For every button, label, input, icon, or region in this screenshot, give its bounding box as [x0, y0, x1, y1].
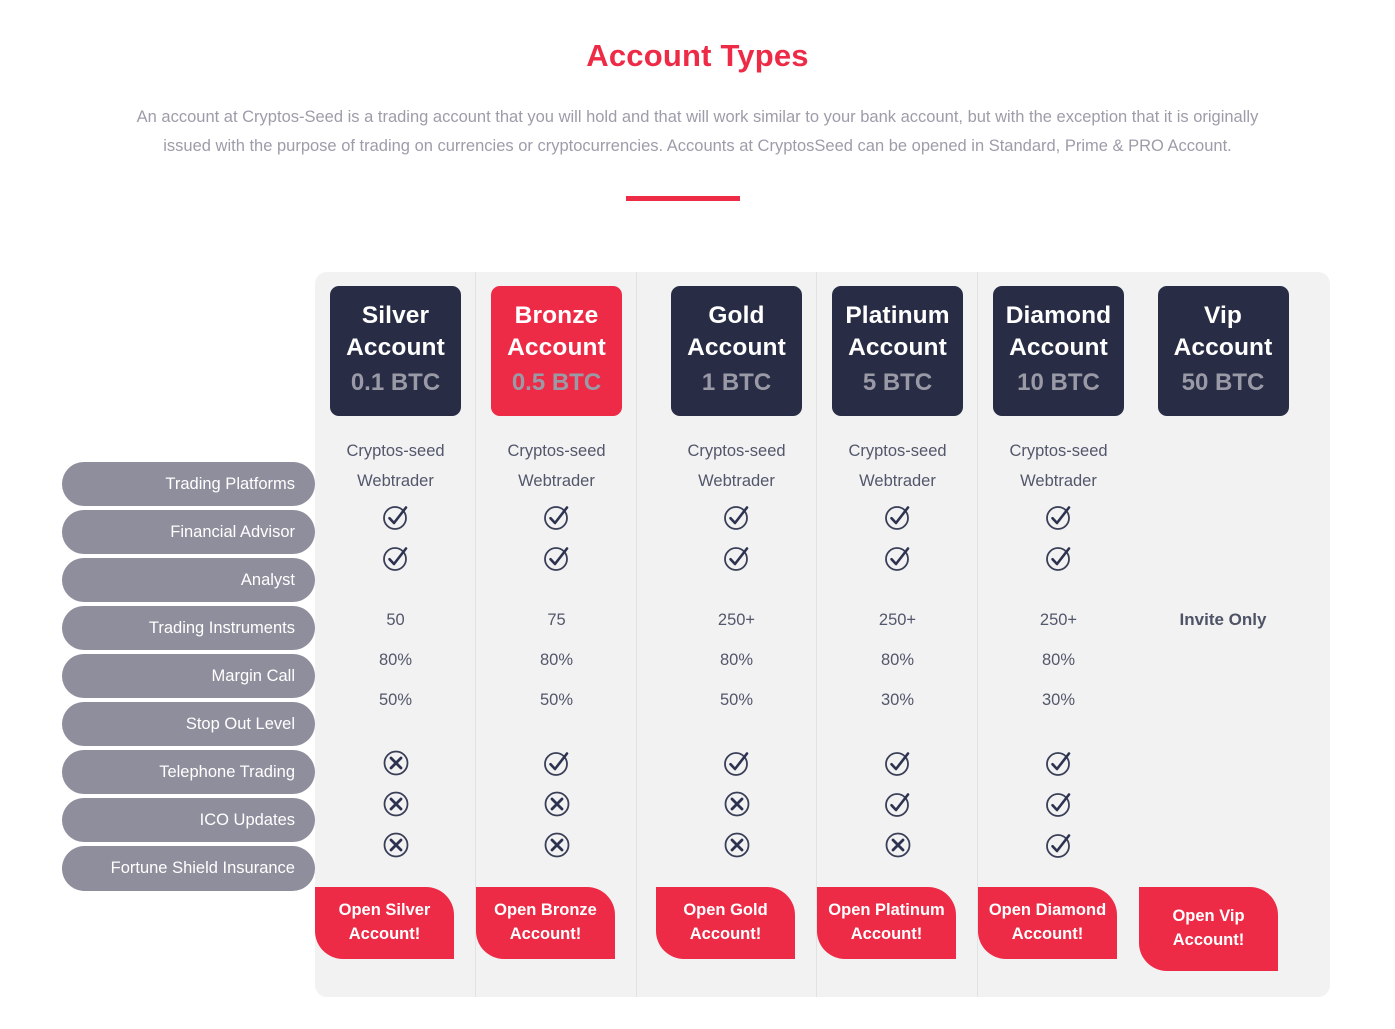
cell-trading-instruments: 250+ — [978, 600, 1139, 640]
cell-financial-advisor — [476, 496, 637, 537]
cell-financial-advisor — [817, 496, 978, 537]
account-name-line2: Account — [1162, 332, 1285, 364]
account-name-line1: Bronze — [495, 300, 618, 332]
account-column-platinum: Platinum Account 5 BTC Cryptos-seed Webt… — [817, 272, 978, 997]
cell-telephone-trading — [978, 742, 1139, 783]
check-circle-icon — [1044, 830, 1074, 860]
invite-only-label: Invite Only — [1139, 600, 1307, 640]
feature-label-trading-instruments[interactable]: Trading Instruments — [62, 606, 315, 650]
cell-fortune-shield-insurance — [656, 824, 817, 865]
column-divider — [636, 272, 637, 997]
cell-analyst — [817, 537, 978, 578]
account-price: 50 BTC — [1162, 366, 1285, 400]
row-spacer — [656, 578, 817, 600]
check-circle-icon — [883, 789, 913, 819]
cell-margin-call: 80% — [656, 640, 817, 680]
account-name-line1: Vip — [1162, 300, 1285, 332]
account-price: 0.5 BTC — [495, 366, 618, 400]
account-price: 5 BTC — [836, 366, 959, 400]
feature-label-trading-platforms[interactable]: Trading Platforms — [62, 462, 315, 506]
cell-trading-instruments: 50 — [315, 600, 476, 640]
cell-financial-advisor — [656, 496, 817, 537]
row-spacer — [817, 865, 978, 887]
account-price: 0.1 BTC — [334, 366, 457, 400]
feature-label-financial-advisor[interactable]: Financial Advisor — [62, 510, 315, 554]
cell-empty — [1139, 640, 1307, 680]
check-circle-icon — [883, 502, 913, 532]
cell-telephone-trading — [476, 742, 637, 783]
cell-trading-instruments: 250+ — [656, 600, 817, 640]
row-spacer — [1139, 720, 1307, 742]
row-spacer — [1139, 865, 1307, 887]
cell-financial-advisor — [315, 496, 476, 537]
account-header-card-silver: Silver Account 0.1 BTC — [330, 286, 461, 416]
row-spacer — [476, 720, 637, 742]
feature-label-analyst[interactable]: Analyst — [62, 558, 315, 602]
check-circle-icon — [542, 748, 572, 778]
cell-telephone-trading — [817, 742, 978, 783]
account-column-silver: Silver Account 0.1 BTC Cryptos-seed Webt… — [315, 272, 476, 997]
cell-fortune-shield-insurance — [817, 824, 978, 865]
cell-ico-updates — [978, 783, 1139, 824]
cell-stop-out-level: 50% — [315, 680, 476, 720]
check-circle-icon — [1044, 543, 1074, 573]
open-silver-account-button[interactable]: Open Silver Account! — [315, 887, 454, 959]
cell-stop-out-level: 30% — [978, 680, 1139, 720]
cell-ico-updates — [817, 783, 978, 824]
row-spacer — [817, 578, 978, 600]
cell-stop-out-level: 50% — [656, 680, 817, 720]
row-spacer — [315, 720, 476, 742]
cell-empty — [1139, 537, 1307, 578]
cell-empty — [1139, 496, 1307, 537]
cell-margin-call: 80% — [817, 640, 978, 680]
row-spacer — [315, 865, 476, 887]
check-circle-icon — [542, 543, 572, 573]
check-circle-icon — [381, 502, 411, 532]
cell-trading-platform: Cryptos-seed Webtrader — [978, 436, 1139, 496]
title-divider — [626, 196, 740, 201]
cross-circle-icon — [381, 748, 411, 778]
row-spacer — [656, 865, 817, 887]
row-spacer — [656, 720, 817, 742]
cell-trading-instruments: 75 — [476, 600, 637, 640]
account-header-card-gold: Gold Account 1 BTC — [671, 286, 802, 416]
account-types-page: Account Types An account at Cryptos-Seed… — [0, 0, 1395, 1029]
row-spacer — [476, 578, 637, 600]
cell-trading-platform: Cryptos-seed Webtrader — [817, 436, 978, 496]
open-vip-account-button[interactable]: Open Vip Account! — [1139, 887, 1278, 971]
check-circle-icon — [1044, 502, 1074, 532]
row-spacer — [978, 578, 1139, 600]
cross-circle-icon — [381, 789, 411, 819]
check-circle-icon — [883, 748, 913, 778]
cell-empty — [1139, 783, 1307, 824]
cell-margin-call: 80% — [315, 640, 476, 680]
cell-analyst — [978, 537, 1139, 578]
cell-trading-platform-empty — [1139, 436, 1307, 496]
cell-ico-updates — [315, 783, 476, 824]
cell-analyst — [315, 537, 476, 578]
cell-ico-updates — [656, 783, 817, 824]
row-spacer — [978, 865, 1139, 887]
account-name-line2: Account — [334, 332, 457, 364]
cell-fortune-shield-insurance — [978, 824, 1139, 865]
account-column-vip: Vip Account 50 BTC Invite Only Open Vip … — [1139, 272, 1307, 997]
account-column-gold: Gold Account 1 BTC Cryptos-seed Webtrade… — [656, 272, 817, 997]
column-gap — [637, 272, 656, 997]
row-spacer — [817, 720, 978, 742]
open-diamond-account-button[interactable]: Open Diamond Account! — [978, 887, 1117, 959]
feature-label-stop-out-level[interactable]: Stop Out Level — [62, 702, 315, 746]
account-price: 1 BTC — [675, 366, 798, 400]
account-name-line1: Platinum — [836, 300, 959, 332]
feature-label-list: Trading Platforms Financial Advisor Anal… — [62, 462, 315, 895]
account-name-line2: Account — [495, 332, 618, 364]
cell-margin-call: 80% — [476, 640, 637, 680]
check-circle-icon — [883, 543, 913, 573]
check-circle-icon — [722, 502, 752, 532]
row-spacer — [315, 578, 476, 600]
check-circle-icon — [381, 543, 411, 573]
row-spacer — [978, 720, 1139, 742]
account-name-line2: Account — [997, 332, 1120, 364]
cross-circle-icon — [722, 830, 752, 860]
cell-empty — [1139, 680, 1307, 720]
cross-circle-icon — [542, 830, 572, 860]
feature-label-margin-call[interactable]: Margin Call — [62, 654, 315, 698]
cell-analyst — [656, 537, 817, 578]
cell-telephone-trading — [656, 742, 817, 783]
cell-margin-call: 80% — [978, 640, 1139, 680]
cell-stop-out-level: 50% — [476, 680, 637, 720]
account-header-card-vip: Vip Account 50 BTC — [1158, 286, 1289, 416]
row-spacer — [1139, 578, 1307, 600]
account-header-card-diamond: Diamond Account 10 BTC — [993, 286, 1124, 416]
open-bronze-account-button[interactable]: Open Bronze Account! — [476, 887, 615, 959]
account-column-diamond: Diamond Account 10 BTC Cryptos-seed Webt… — [978, 272, 1139, 997]
account-header-card-platinum: Platinum Account 5 BTC — [832, 286, 963, 416]
cell-analyst — [476, 537, 637, 578]
cell-empty — [1139, 824, 1307, 865]
cell-trading-instruments: 250+ — [817, 600, 978, 640]
cell-financial-advisor — [978, 496, 1139, 537]
open-platinum-account-button[interactable]: Open Platinum Account! — [817, 887, 956, 959]
cell-trading-platform: Cryptos-seed Webtrader — [656, 436, 817, 496]
cell-stop-out-level: 30% — [817, 680, 978, 720]
page-description: An account at Cryptos-Seed is a trading … — [120, 103, 1275, 161]
cell-trading-platform: Cryptos-seed Webtrader — [476, 436, 637, 496]
account-comparison-table: Silver Account 0.1 BTC Cryptos-seed Webt… — [315, 272, 1330, 997]
open-gold-account-button[interactable]: Open Gold Account! — [656, 887, 795, 959]
account-header-card-bronze: Bronze Account 0.5 BTC — [491, 286, 622, 416]
cross-circle-icon — [381, 830, 411, 860]
cell-empty — [1139, 742, 1307, 783]
account-price: 10 BTC — [997, 366, 1120, 400]
check-circle-icon — [1044, 789, 1074, 819]
cell-ico-updates — [476, 783, 637, 824]
cross-circle-icon — [883, 830, 913, 860]
account-name-line2: Account — [836, 332, 959, 364]
cross-circle-icon — [542, 789, 572, 819]
cell-fortune-shield-insurance — [315, 824, 476, 865]
account-columns: Silver Account 0.1 BTC Cryptos-seed Webt… — [315, 272, 1330, 997]
feature-label-telephone-trading[interactable]: Telephone Trading — [62, 750, 315, 794]
cell-trading-platform: Cryptos-seed Webtrader — [315, 436, 476, 496]
check-circle-icon — [722, 748, 752, 778]
feature-label-ico-updates[interactable]: ICO Updates — [62, 798, 315, 842]
cell-telephone-trading — [315, 742, 476, 783]
cross-circle-icon — [722, 789, 752, 819]
account-column-bronze: Bronze Account 0.5 BTC Cryptos-seed Webt… — [476, 272, 637, 997]
check-circle-icon — [542, 502, 572, 532]
row-spacer — [476, 865, 637, 887]
check-circle-icon — [722, 543, 752, 573]
account-name-line1: Gold — [675, 300, 798, 332]
account-name-line2: Account — [675, 332, 798, 364]
check-circle-icon — [1044, 748, 1074, 778]
account-name-line1: Silver — [334, 300, 457, 332]
cell-fortune-shield-insurance — [476, 824, 637, 865]
feature-label-fortune-shield-insurance[interactable]: Fortune Shield Insurance — [62, 846, 315, 891]
page-title: Account Types — [0, 38, 1395, 74]
account-name-line1: Diamond — [997, 300, 1120, 332]
